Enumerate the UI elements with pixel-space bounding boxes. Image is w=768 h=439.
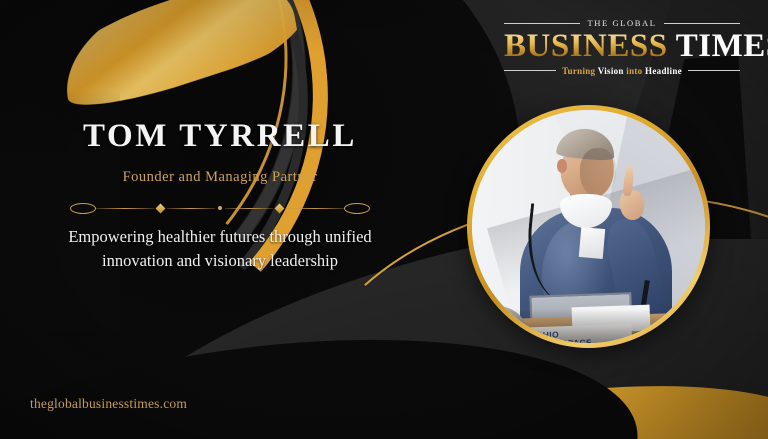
divider-dot-icon [218,206,222,210]
logo-wordmark: BUSINESS TIMES [504,29,740,64]
logo-word-business: BUSINESS [504,28,668,64]
speaker-content: TOM TYRRELL Founder and Managing Partner… [0,118,440,274]
speaker-name: TOM TYRRELL [0,118,440,155]
website-url[interactable]: theglobalbusinesstimes.com [30,396,187,412]
logo-rule-left [504,23,580,24]
logo-tagline-vision: Vision [598,66,624,76]
portrait-bottom-shade [472,309,705,343]
speaker-portrait: OHIO AEROSPACE INSTITUTE [472,110,705,343]
logo-tagline-into: into [624,66,645,76]
portrait-face-shadow [580,148,616,196]
logo-tagline: Turning Vision into Headline [562,66,682,76]
logo-eyebrow-row: THE GLOBAL [504,18,740,28]
logo-rule-right [664,23,740,24]
logo-tagline-rule-left [504,70,556,71]
divider-diamond-left-icon [156,203,166,213]
speaker-role: Founder and Managing Partner [0,169,440,186]
divider-line-1 [96,208,154,209]
decorative-divider [59,202,381,214]
speaker-quote: Empowering healthier futures through uni… [55,225,385,274]
divider-lens-right-icon [344,203,370,214]
divider-line-3 [225,208,273,209]
divider-diamond-right-icon [275,203,285,213]
divider-line-2 [167,208,215,209]
brand-logo[interactable]: THE GLOBAL BUSINESS TIMES Turning Vision… [504,18,740,76]
divider-line-4 [286,208,344,209]
portrait-gold-ring: OHIO AEROSPACE INSTITUTE [467,105,710,348]
logo-eyebrow-text: THE GLOBAL [587,18,656,28]
logo-tagline-headline: Headline [645,66,682,76]
logo-tagline-row: Turning Vision into Headline [504,66,740,76]
logo-word-times: TIMES [668,28,768,64]
logo-tagline-pre: Turning [562,66,598,76]
logo-tagline-rule-right [688,70,740,71]
quote-card: THE GLOBAL BUSINESS TIMES Turning Vision… [0,0,768,439]
portrait-ear [557,159,567,173]
divider-lens-left-icon [70,203,96,214]
